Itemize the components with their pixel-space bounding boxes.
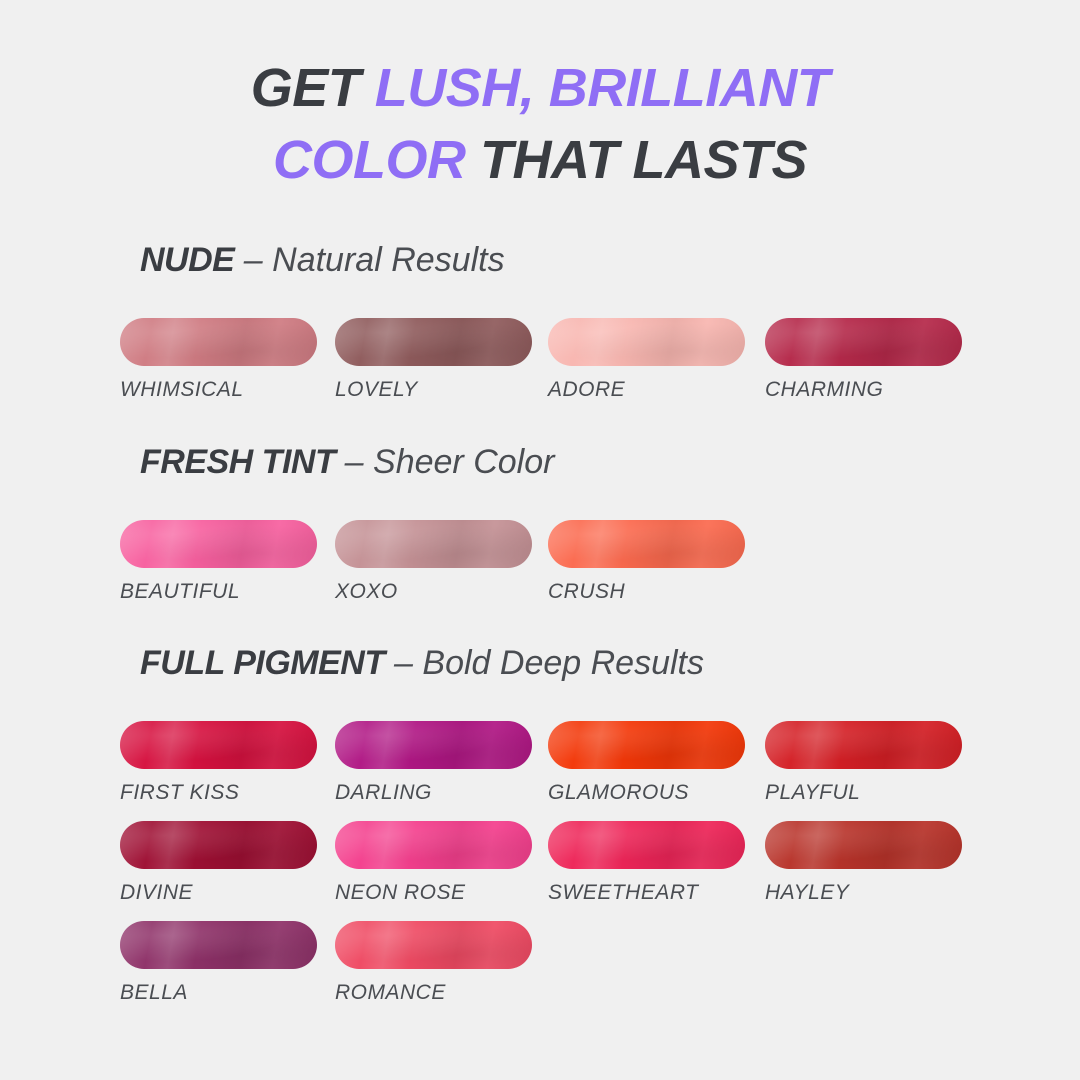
swatch-grid: WHIMSICALLOVELYADORECHARMING [0, 318, 1080, 418]
section-header: FULL PIGMENT – Bold Deep Results [140, 643, 1080, 683]
headline-line2-accent: COLOR [273, 130, 480, 190]
headline-line-2: COLOR THAT LASTS [0, 124, 1080, 196]
swatch-color-chip[interactable] [335, 318, 532, 366]
swatch-label: NEON ROSE [335, 881, 532, 905]
swatch-color-chip[interactable] [765, 318, 962, 366]
swatch-item[interactable]: CHARMING [765, 318, 962, 402]
swatch-label: HAYLEY [765, 881, 962, 905]
swatch-label: CHARMING [765, 378, 962, 402]
swatch-item[interactable]: BEAUTIFUL [120, 520, 317, 604]
swatch-item[interactable]: HAYLEY [765, 821, 962, 905]
swatch-row: DIVINENEON ROSESWEETHEARTHAYLEY [0, 821, 1080, 921]
swatch-color-chip[interactable] [335, 520, 532, 568]
section-title-bold: FULL PIGMENT [140, 644, 385, 682]
swatch-label: DIVINE [120, 881, 317, 905]
swatch-label: CRUSH [548, 580, 745, 604]
swatch-label: SWEETHEART [548, 881, 745, 905]
section-title-subtitle: – Sheer Color [335, 443, 554, 481]
swatch-label: DARLING [335, 781, 532, 805]
swatch-row: FIRST KISSDARLINGGLAMOROUSPLAYFUL [0, 721, 1080, 821]
swatch-item[interactable]: FIRST KISS [120, 721, 317, 805]
swatch-color-chip[interactable] [120, 721, 317, 769]
swatch-item[interactable]: NEON ROSE [335, 821, 532, 905]
swatch-grid: FIRST KISSDARLINGGLAMOROUSPLAYFULDIVINEN… [0, 721, 1080, 1021]
section-title-bold: NUDE [140, 241, 234, 279]
swatch-label: BELLA [120, 981, 317, 1005]
swatch-label: PLAYFUL [765, 781, 962, 805]
swatch-row: BEAUTIFULXOXOCRUSH [0, 520, 1080, 620]
swatch-color-chip[interactable] [548, 520, 745, 568]
swatch-item[interactable]: XOXO [335, 520, 532, 604]
shade-section: FRESH TINT – Sheer ColorBEAUTIFULXOXOCRU… [0, 442, 1080, 620]
swatch-color-chip[interactable] [120, 520, 317, 568]
section-title-subtitle: – Bold Deep Results [385, 644, 704, 682]
swatch-color-chip[interactable] [120, 821, 317, 869]
swatch-color-chip[interactable] [548, 821, 745, 869]
section-title-bold: FRESH TINT [140, 443, 335, 481]
shade-section: NUDE – Natural ResultsWHIMSICALLOVELYADO… [0, 240, 1080, 418]
shade-section: FULL PIGMENT – Bold Deep ResultsFIRST KI… [0, 643, 1080, 1021]
headline-line-1: GET LUSH, BRILLIANT [0, 52, 1080, 124]
swatch-color-chip[interactable] [335, 721, 532, 769]
swatch-item[interactable]: PLAYFUL [765, 721, 962, 805]
section-title-subtitle: – Natural Results [234, 241, 504, 279]
swatch-color-chip[interactable] [765, 821, 962, 869]
swatch-color-chip[interactable] [548, 318, 745, 366]
swatch-label: ROMANCE [335, 981, 532, 1005]
section-header: FRESH TINT – Sheer Color [140, 442, 1080, 482]
swatch-row: WHIMSICALLOVELYADORECHARMING [0, 318, 1080, 418]
headline-line1-accent: LUSH, BRILLIANT [375, 58, 829, 118]
swatch-color-chip[interactable] [335, 921, 532, 969]
swatch-label: BEAUTIFUL [120, 580, 317, 604]
swatch-color-chip[interactable] [765, 721, 962, 769]
swatch-item[interactable]: CRUSH [548, 520, 745, 604]
swatch-item[interactable]: WHIMSICAL [120, 318, 317, 402]
swatch-color-chip[interactable] [120, 921, 317, 969]
headline-line2-dark: THAT LASTS [480, 130, 807, 190]
swatch-color-chip[interactable] [120, 318, 317, 366]
swatch-item[interactable]: DARLING [335, 721, 532, 805]
swatch-item[interactable]: BELLA [120, 921, 317, 1005]
swatch-color-chip[interactable] [548, 721, 745, 769]
swatch-label: XOXO [335, 580, 532, 604]
page-headline: GET LUSH, BRILLIANT COLOR THAT LASTS [0, 52, 1080, 196]
swatch-label: GLAMOROUS [548, 781, 745, 805]
section-header: NUDE – Natural Results [140, 240, 1080, 280]
swatch-item[interactable]: ROMANCE [335, 921, 532, 1005]
swatch-item[interactable]: ADORE [548, 318, 745, 402]
swatch-item[interactable]: LOVELY [335, 318, 532, 402]
swatch-grid: BEAUTIFULXOXOCRUSH [0, 520, 1080, 620]
swatch-label: WHIMSICAL [120, 378, 317, 402]
swatch-color-chip[interactable] [335, 821, 532, 869]
swatch-label: LOVELY [335, 378, 532, 402]
swatch-item[interactable]: DIVINE [120, 821, 317, 905]
swatch-label: FIRST KISS [120, 781, 317, 805]
swatch-label: ADORE [548, 378, 745, 402]
swatch-item[interactable]: SWEETHEART [548, 821, 745, 905]
swatch-row: BELLAROMANCE [0, 921, 1080, 1021]
swatch-item[interactable]: GLAMOROUS [548, 721, 745, 805]
headline-line1-dark: GET [251, 58, 375, 118]
